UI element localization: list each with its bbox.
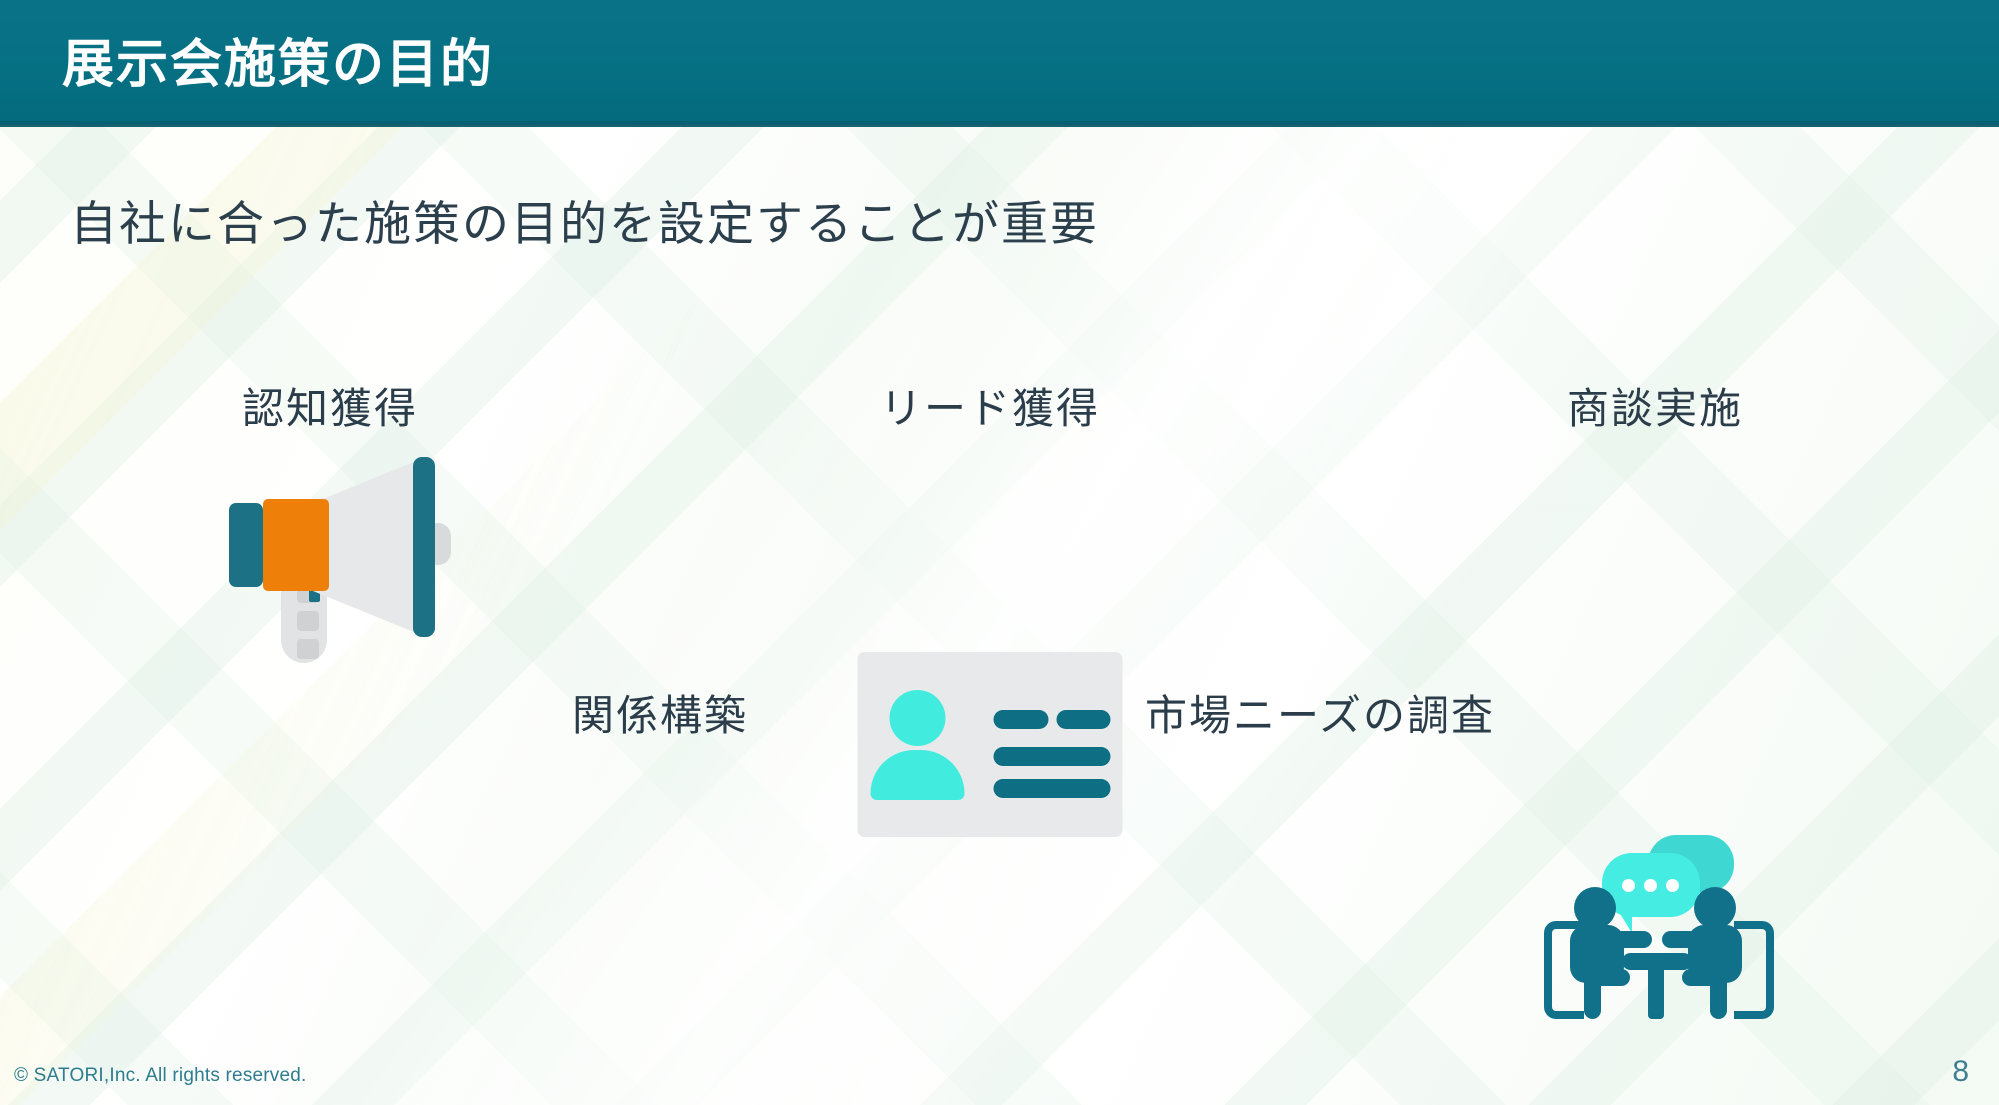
megaphone-rim: [413, 457, 435, 637]
meeting-discussion-icon: [1540, 835, 1770, 1020]
person-right-head: [1694, 887, 1736, 929]
meeting-table-leg: [1648, 961, 1664, 1019]
person-left-head: [1574, 887, 1616, 929]
speech-dot-1: [1622, 879, 1635, 892]
card-text-line-1a: [994, 710, 1049, 729]
card-text-line-2: [994, 747, 1111, 766]
megaphone-button-3: [297, 639, 319, 659]
page-title: 展示会施策の目的: [62, 22, 494, 97]
card-person-body: [871, 750, 965, 800]
speech-dot-2: [1644, 879, 1657, 892]
item-label-market-needs-research: 市場ニーズの調査: [1145, 682, 1495, 743]
speech-dot-3: [1666, 879, 1679, 892]
item-label-business-meeting: 商談実施: [1567, 375, 1743, 436]
slide-header-bar: 展示会施策の目的: [0, 0, 1999, 125]
copyright-text: © SATORI,Inc. All rights reserved.: [14, 1065, 307, 1087]
megaphone-icon: [225, 455, 435, 645]
page-number: 8: [1952, 1055, 1969, 1089]
card-text-line-3: [994, 779, 1111, 798]
person-right-leg: [1710, 975, 1727, 1019]
megaphone-body: [263, 499, 329, 591]
card-person-head: [890, 690, 946, 746]
person-right-arm: [1662, 931, 1716, 948]
business-card-icon: [858, 652, 1123, 837]
slide-canvas: 展示会施策の目的 自社に合った施策の目的を設定することが重要 認知獲得 リード獲…: [0, 0, 1999, 1105]
item-label-lead-acquisition: リード獲得: [880, 375, 1100, 436]
megaphone-back-block: [229, 503, 263, 587]
megaphone-cone: [313, 459, 421, 635]
person-left-leg: [1584, 975, 1601, 1019]
item-label-awareness: 認知獲得: [242, 375, 418, 436]
card-text-line-1b: [1057, 710, 1111, 729]
person-left-arm: [1598, 931, 1652, 948]
megaphone-button-2: [297, 611, 319, 631]
item-label-relationship-building: 関係構築: [572, 682, 748, 743]
slide-subtitle: 自社に合った施策の目的を設定することが重要: [70, 185, 1099, 254]
header-underline: [0, 121, 1999, 125]
